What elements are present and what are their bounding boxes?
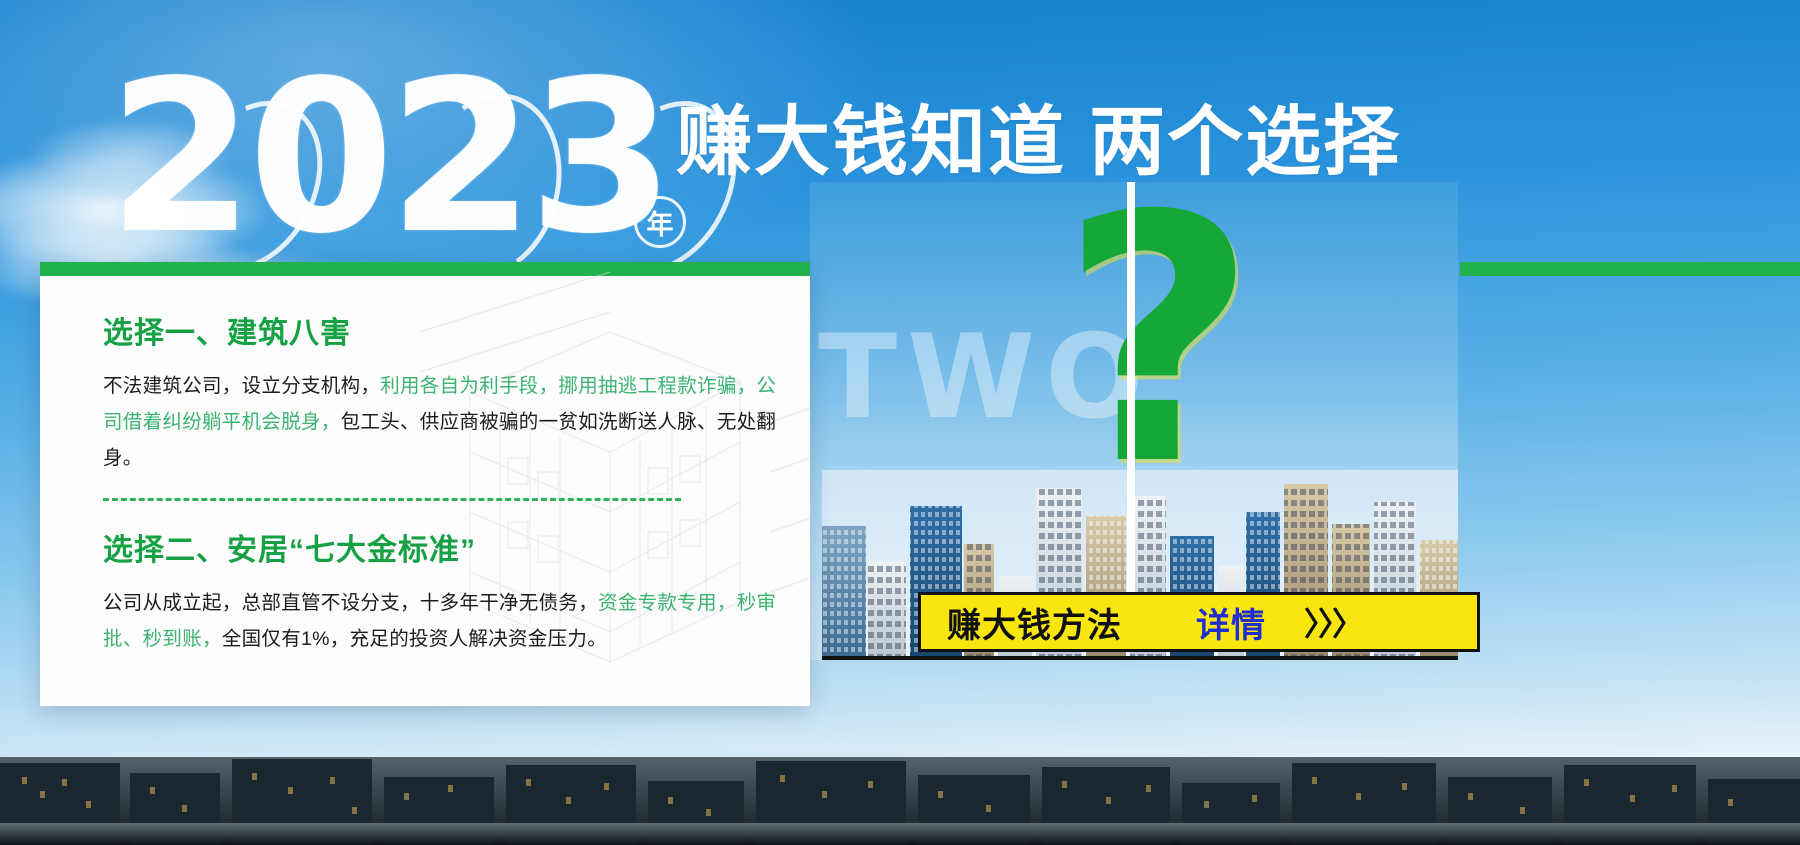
section-two-body: 公司从成立起，总部直管不设分支，十多年干净无债务，资金专款专用，秒审批、秒到账，… xyxy=(103,585,783,657)
text-run-black: 全国仅有1%，充足的投资人解决资金压力。 xyxy=(222,628,607,650)
bottom-photo-strip xyxy=(0,757,1800,845)
text-run-green: 资金专款专 xyxy=(598,592,697,614)
card-content: 选择一、建筑八害 不法建筑公司，设立分支机构，利用各自为利手段，挪用抽逃工程款诈… xyxy=(103,308,783,657)
chevron-right-icon: 〉〉〉 xyxy=(1304,599,1362,645)
question-mark-icon: ? xyxy=(1060,192,1257,492)
section-one-body: 不法建筑公司，设立分支机构，利用各自为利手段，挪用抽逃工程款诈骗，公司借着纠纷躺… xyxy=(103,368,783,476)
cta-button[interactable]: 赚大钱方法 详情 〉〉〉 xyxy=(918,592,1480,652)
section-divider xyxy=(103,498,681,501)
card-accent-bar xyxy=(40,262,810,276)
text-run-black: 公司从成立起，总部直管不设分支，十多年干净无债务， xyxy=(103,592,598,614)
bottom-strip-graphics xyxy=(0,757,1800,845)
content-card: 选择一、建筑八害 不法建筑公司，设立分支机构，利用各自为利手段，挪用抽逃工程款诈… xyxy=(40,262,810,706)
text-run-black: 包工头、供应商被骗的一贫如洗 xyxy=(341,411,618,433)
text-run-green: 利用各自为利手段，挪用抽逃工程款 xyxy=(380,375,697,397)
accent-bar-right xyxy=(1460,262,1800,276)
text-run-black: 不法建筑公司，设立分支机构， xyxy=(103,375,380,397)
section-two-title: 选择二、安居“七大金标准” xyxy=(103,525,783,569)
poster-stage: 2023 年 赚大钱知道 两个选择 TWO CHOICES xyxy=(0,0,1800,845)
panel-divider xyxy=(1127,182,1135,606)
section-one-title: 选择一、建筑八害 xyxy=(103,308,783,352)
cta-main-label: 赚大钱方法 xyxy=(947,598,1122,647)
page-title: 赚大钱知道 两个选择 xyxy=(676,80,1401,190)
year-suffix-badge: 年 xyxy=(634,196,686,248)
cta-detail-label: 详情 xyxy=(1196,598,1266,647)
